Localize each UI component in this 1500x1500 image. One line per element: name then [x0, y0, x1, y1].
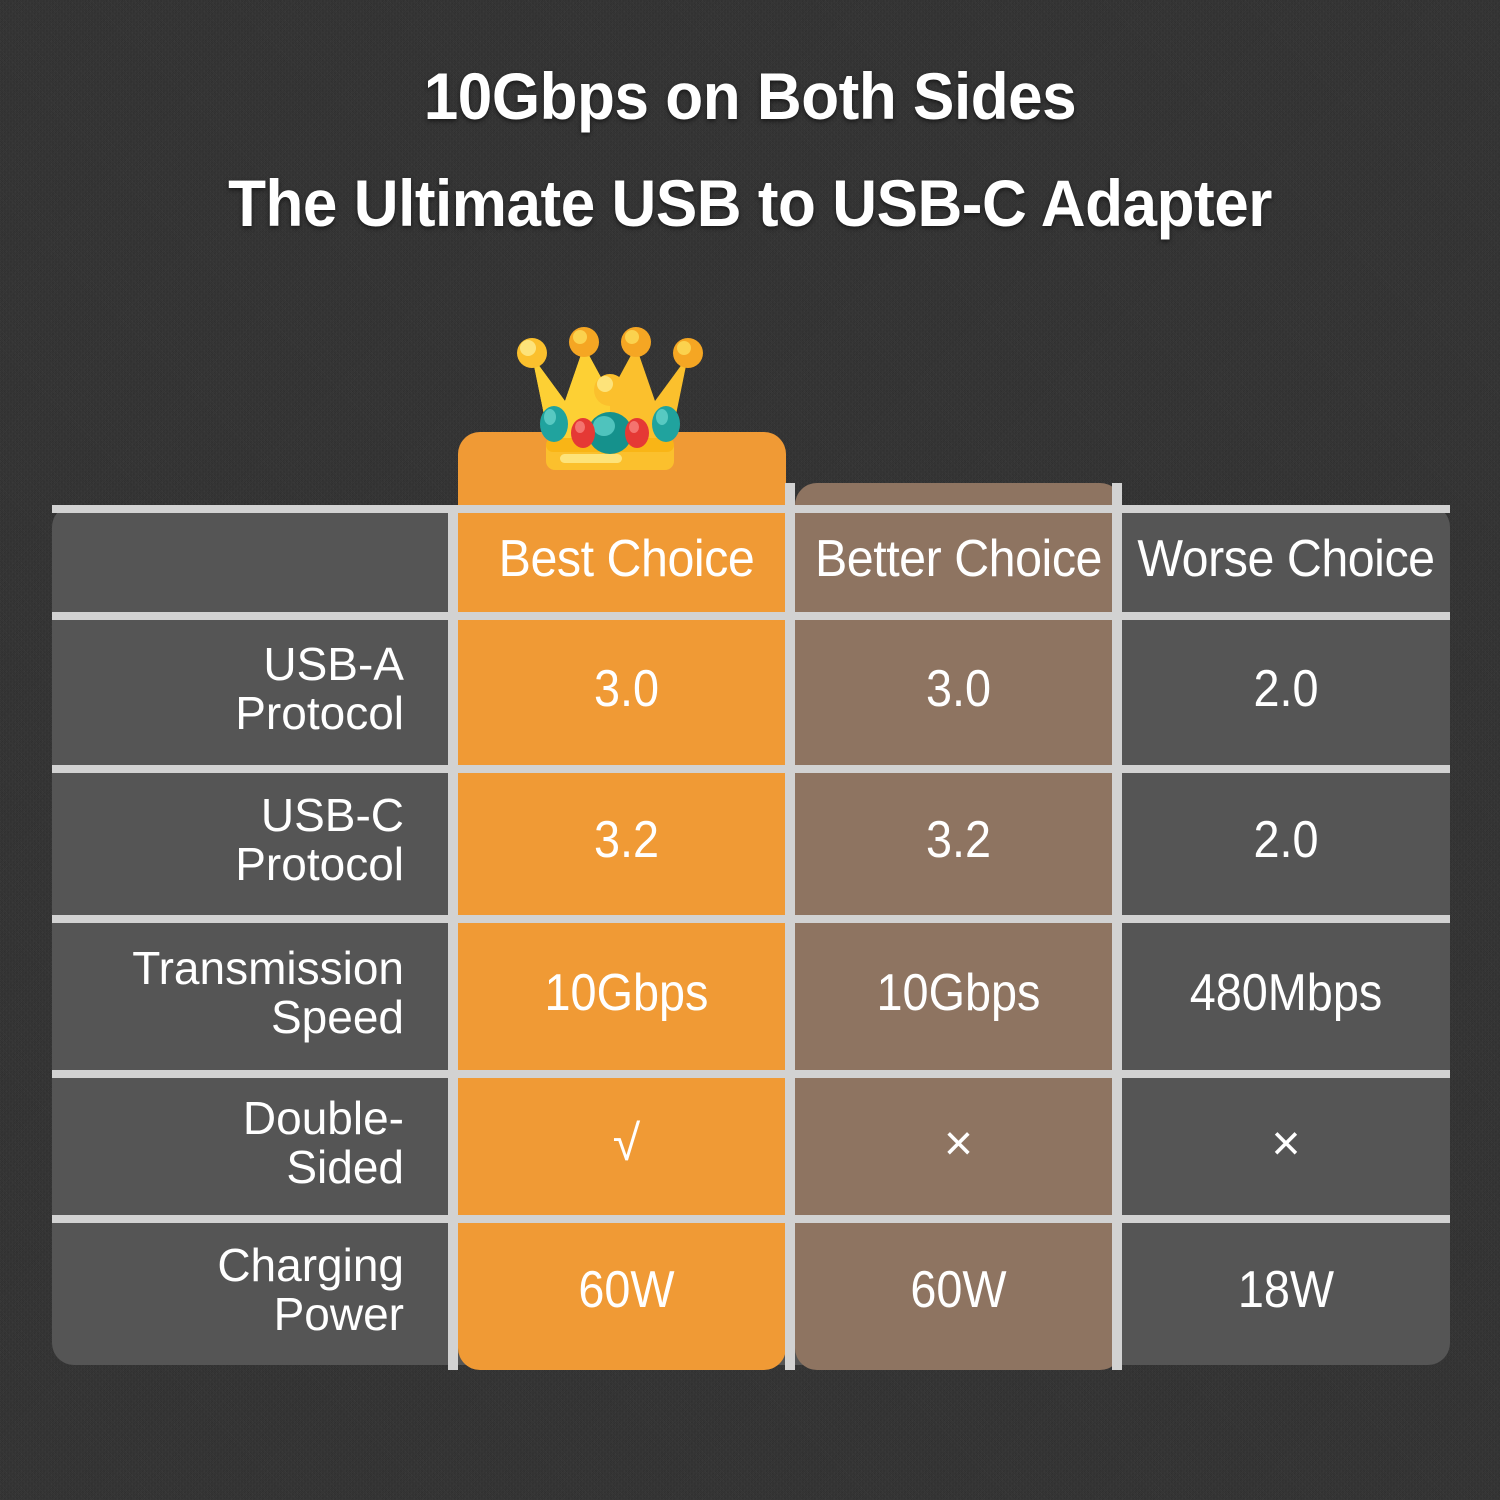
- table-cells: Best Choice Better Choice Worse Choice U…: [52, 432, 1450, 1370]
- crown-icon: [510, 316, 710, 491]
- row-label-line-1: Transmission: [132, 944, 404, 993]
- cell-better-charging-power: 60W: [811, 1215, 1105, 1365]
- row-label-line-2: Protocol: [235, 840, 404, 889]
- row-label-line-1: Double-: [243, 1094, 404, 1143]
- cell-worse-double-sided-cross-icon: ×: [1122, 1070, 1450, 1215]
- cell-best-charging-power: 60W: [475, 1215, 778, 1365]
- cell-best-speed: 10Gbps: [475, 915, 778, 1070]
- headline-line-2: The Ultimate USB to USB-C Adapter: [45, 169, 1455, 238]
- row-label-line-2: Protocol: [235, 689, 404, 738]
- row-label-line-1: USB-A: [235, 640, 404, 689]
- row-label-line-1: USB-C: [235, 791, 404, 840]
- row-label-transmission-speed: Transmission Speed: [52, 915, 458, 1070]
- row-label-line-2: Speed: [132, 993, 404, 1042]
- row-label-usb-a-protocol: USB-A Protocol: [52, 612, 458, 765]
- cell-best-usb-c: 3.2: [475, 765, 778, 915]
- cell-worse-usb-c: 2.0: [1138, 765, 1433, 915]
- row-label-line-2: Power: [217, 1290, 404, 1339]
- cell-worse-speed: 480Mbps: [1138, 915, 1433, 1070]
- row-label-line-2: Sided: [243, 1143, 404, 1192]
- header-best-choice: Best Choice: [470, 505, 783, 612]
- cell-worse-charging-power: 18W: [1138, 1215, 1433, 1365]
- row-label-charging-power: Charging Power: [52, 1215, 458, 1365]
- cell-worse-usb-a: 2.0: [1138, 612, 1433, 765]
- row-label-double-sided: Double- Sided: [52, 1070, 458, 1215]
- row-label-usb-c-protocol: USB-C Protocol: [52, 765, 458, 915]
- header-worse-choice: Worse Choice: [1133, 505, 1438, 612]
- cell-best-usb-a: 3.0: [475, 612, 778, 765]
- infographic-page: 10Gbps on Both Sides The Ultimate USB to…: [0, 0, 1500, 1500]
- cell-better-double-sided-cross-icon: ×: [795, 1070, 1122, 1215]
- row-label-line-1: Charging: [217, 1241, 404, 1290]
- cell-better-speed: 10Gbps: [811, 915, 1105, 1070]
- headline-block: 10Gbps on Both Sides The Ultimate USB to…: [0, 62, 1500, 239]
- cell-better-usb-a: 3.0: [811, 612, 1105, 765]
- header-better-choice: Better Choice: [806, 505, 1110, 612]
- cell-best-double-sided-check-icon: √: [458, 1070, 795, 1215]
- headline-line-1: 10Gbps on Both Sides: [45, 62, 1455, 131]
- cell-better-usb-c: 3.2: [811, 765, 1105, 915]
